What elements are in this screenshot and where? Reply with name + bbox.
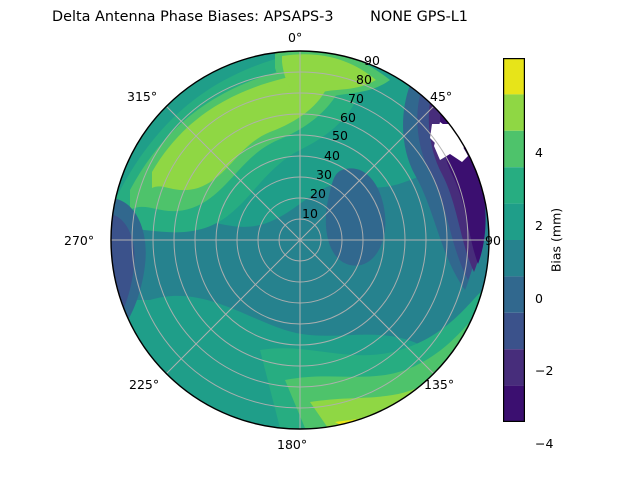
angular-tick-180: 180° [277,437,307,452]
colorbar: 4 2 0 −2 −4 [503,58,525,422]
angular-tick-90: 90 [485,233,501,248]
colorbar-tick-2: 2 [535,218,543,233]
radial-tick-40: 40 [324,148,340,163]
colorbar-gradient [503,58,525,422]
radial-tick-30: 30 [316,167,332,182]
angular-tick-270: 270° [64,233,94,248]
page-title: Delta Antenna Phase Biases: APSAPS-3 NON… [0,9,520,25]
colorbar-bands [503,58,525,422]
polar-contour-svg [110,50,490,430]
figure-canvas: Delta Antenna Phase Biases: APSAPS-3 NON… [0,0,640,480]
angular-tick-0: 0° [288,30,302,45]
angular-tick-225: 225° [129,377,159,392]
radial-tick-80: 80 [356,72,372,87]
angular-tick-45: 45° [430,89,452,104]
colorbar-tick-0: 0 [535,291,543,306]
radial-tick-50: 50 [332,128,348,143]
polar-plot: 10 20 30 40 50 60 70 80 90 [110,50,490,430]
colorbar-axis-label: Bias (mm) [549,208,564,272]
radial-tick-20: 20 [310,186,326,201]
colorbar-tick-neg-4: −4 [535,436,553,451]
radial-tick-10: 10 [302,206,318,221]
radial-tick-70: 70 [348,91,364,106]
angular-tick-135: 135° [424,377,454,392]
radial-tick-60: 60 [340,110,356,125]
colorbar-tick-4: 4 [535,145,543,160]
angular-tick-315: 315° [127,89,157,104]
radial-tick-90: 90 [364,53,380,68]
colorbar-tick-neg-2: −2 [535,363,553,378]
polar-grid-spokes [111,51,489,429]
